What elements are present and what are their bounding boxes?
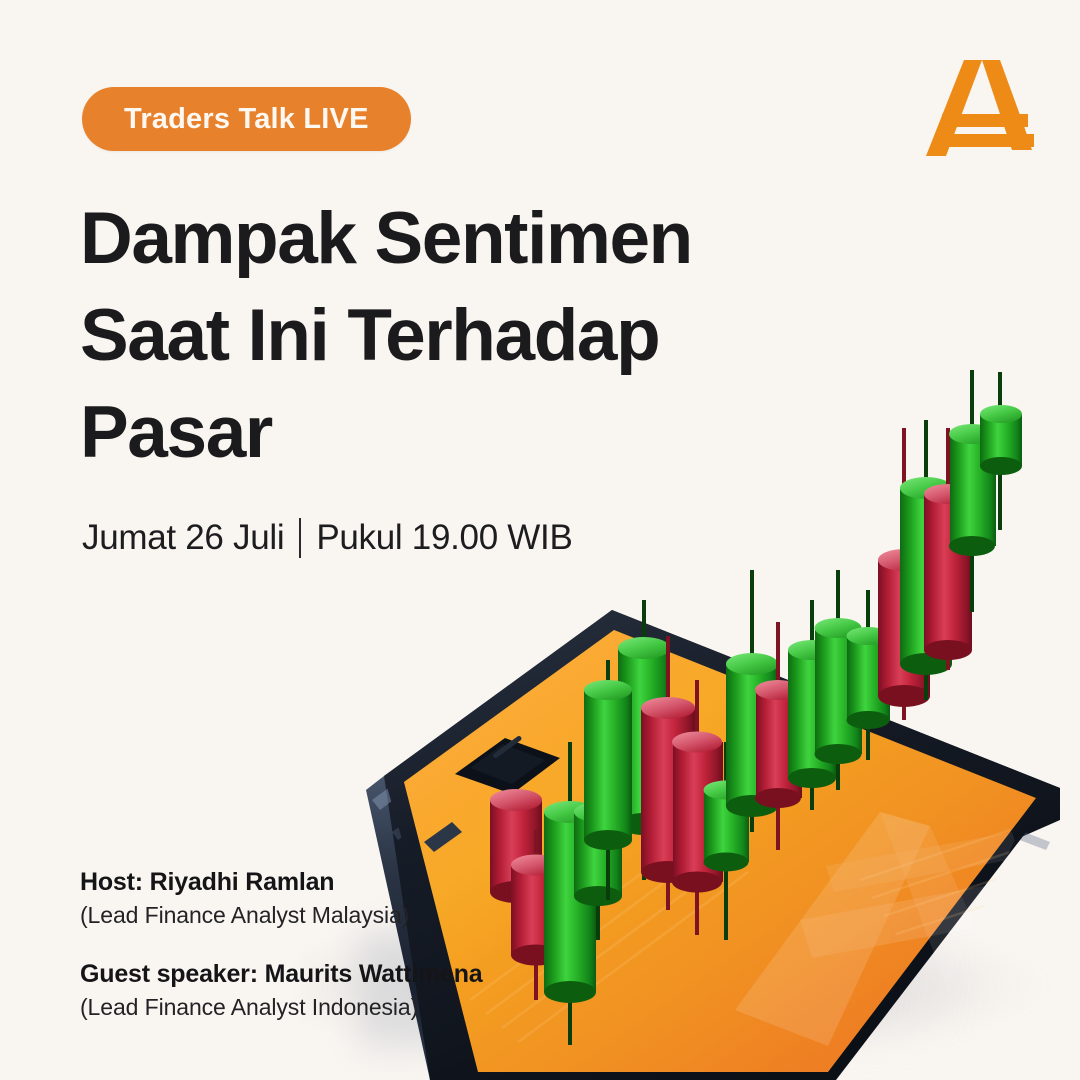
candle-12-bull — [788, 600, 836, 810]
candle-17-bear — [924, 428, 972, 670]
candle-6-bull — [584, 660, 632, 900]
poster-canvas: Traders Talk LIVE Dampak Sentimen Saat I… — [0, 0, 1080, 1080]
credit-host: Host: Riyadhi Ramlan (Lead Finance Analy… — [80, 866, 483, 930]
logo-a-icon — [920, 52, 1038, 164]
candle-14-bull — [847, 590, 891, 760]
event-date: Jumat 26 Juli — [82, 518, 284, 558]
device-side-button — [424, 822, 462, 852]
headline-line-2: Saat Ini Terhadap — [80, 287, 860, 384]
host-role: (Lead Finance Analyst Malaysia) — [80, 901, 483, 930]
speaker-credits: Host: Riyadhi Ramlan (Lead Finance Analy… — [80, 866, 483, 1023]
candle-19-bull — [980, 372, 1022, 530]
page-title: Dampak Sentimen Saat Ini Terhadap Pasar — [80, 190, 860, 481]
guest-role: (Lead Finance Analyst Indonesia) — [80, 993, 483, 1022]
schedule-separator — [299, 518, 301, 558]
guest-name: Guest speaker: Maurits Wattimena — [80, 958, 483, 990]
device-notch — [455, 738, 560, 794]
headline-line-3: Pasar — [80, 384, 860, 481]
host-name: Host: Riyadhi Ramlan — [80, 866, 483, 898]
event-time: Pukul 19.00 WIB — [316, 518, 572, 558]
candle-18-bull — [949, 370, 996, 612]
candle-16-bull — [900, 420, 952, 700]
candle-11-bear — [755, 622, 802, 850]
credit-guest: Guest speaker: Maurits Wattimena (Lead F… — [80, 958, 483, 1022]
headline-line-1: Dampak Sentimen — [80, 190, 860, 287]
live-badge-label: Traders Talk LIVE — [124, 103, 369, 136]
candle-10-bull — [726, 570, 778, 832]
event-schedule: Jumat 26 Juli Pukul 19.00 WIB — [82, 518, 573, 558]
candle-7-bear — [641, 636, 695, 910]
candle-13-bull — [815, 570, 863, 790]
candle-8-bear — [672, 680, 723, 935]
candle-15-bear — [878, 428, 930, 720]
live-badge[interactable]: Traders Talk LIVE — [82, 87, 411, 151]
candle-5-bull — [618, 600, 670, 880]
